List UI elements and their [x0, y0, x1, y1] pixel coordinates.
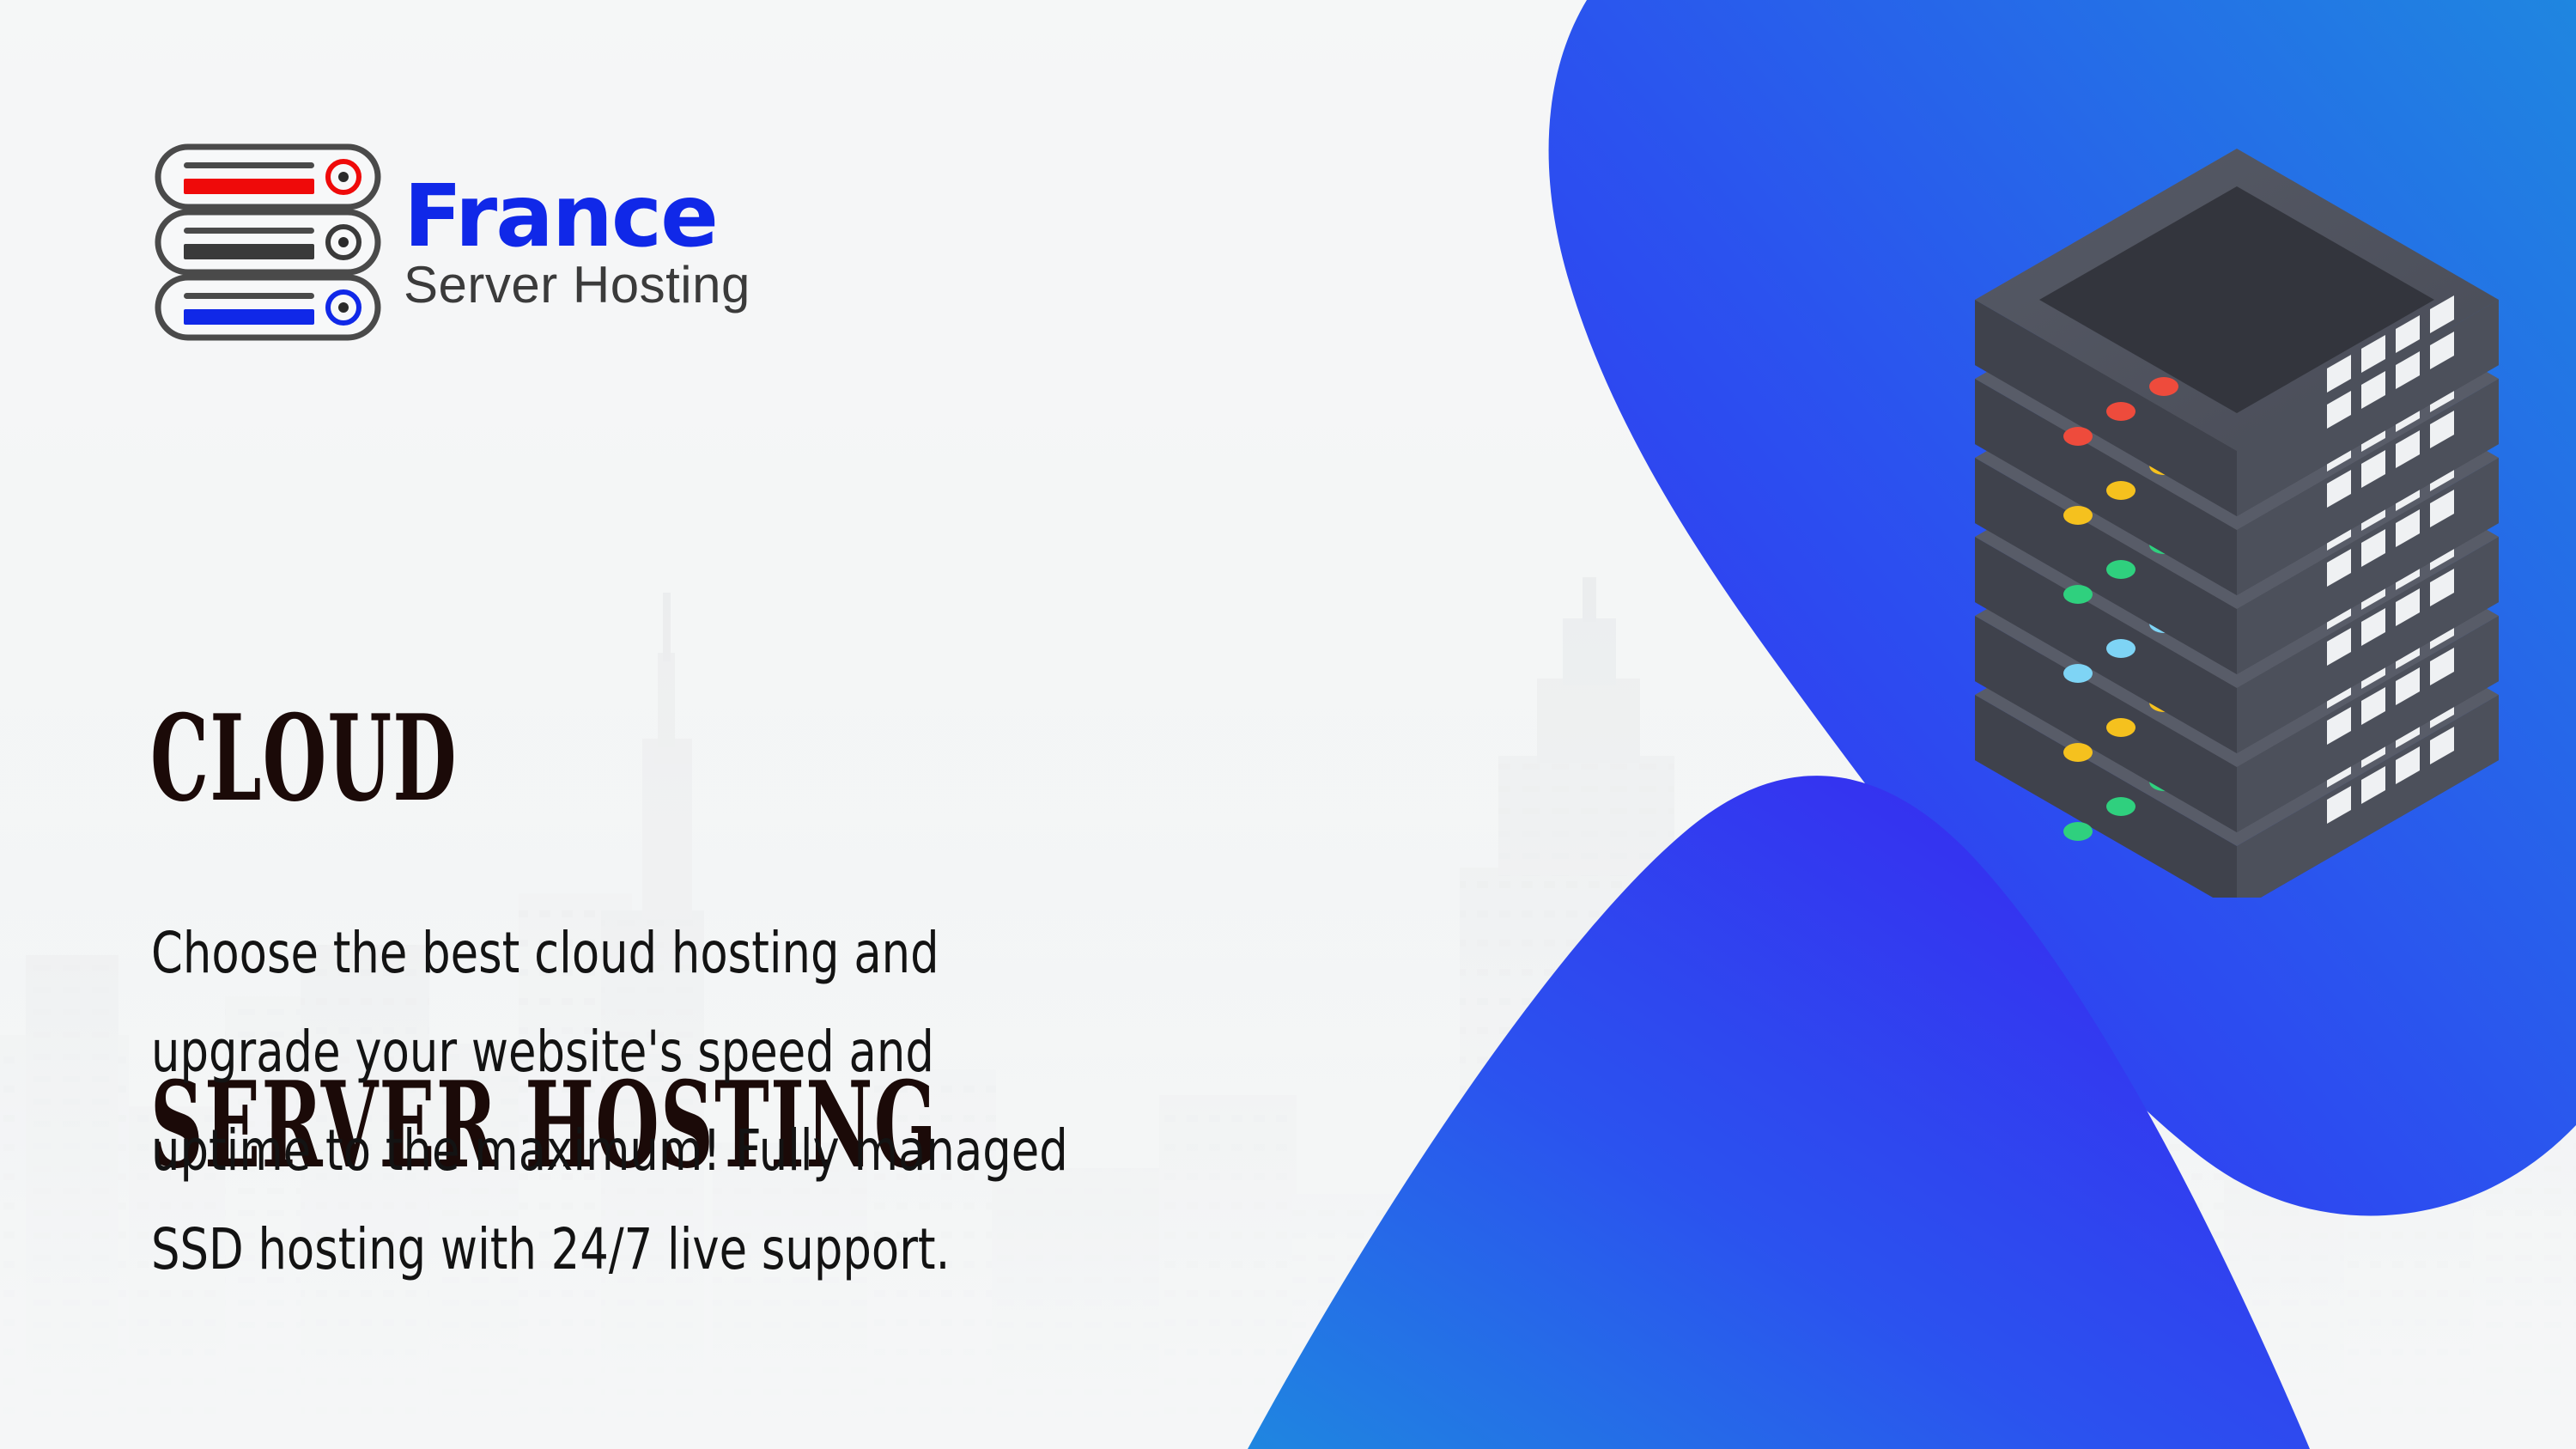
- hosting-promo-banner: France Server Hosting CLOUD SERVER HOSTI…: [0, 0, 2576, 1449]
- body-line-4: SSD hosting with 24/7 live support.: [151, 1200, 1091, 1299]
- body-line-2: upgrade your website's speed and: [151, 1002, 1091, 1101]
- promo-description: Choose the best cloud hosting and upgrad…: [151, 904, 1091, 1299]
- logo-brand-name: France: [404, 175, 750, 258]
- server-units: [1975, 149, 2499, 898]
- brand-logo[interactable]: France Server Hosting: [153, 142, 750, 344]
- logo-server-unit-3: [158, 277, 378, 338]
- body-line-3: uptime to the maximum! Fully managed: [151, 1101, 1091, 1200]
- logo-server-unit-1: [158, 147, 378, 207]
- server-stack-icon: [153, 142, 383, 344]
- body-line-1: Choose the best cloud hosting and: [151, 904, 1091, 1002]
- logo-tagline: Server Hosting: [404, 259, 750, 311]
- isometric-server-rack-illustration: [1958, 107, 2542, 898]
- logo-wordmark: France Server Hosting: [404, 175, 750, 311]
- logo-server-unit-2: [158, 212, 378, 272]
- headline-line-1: CLOUD: [150, 697, 938, 819]
